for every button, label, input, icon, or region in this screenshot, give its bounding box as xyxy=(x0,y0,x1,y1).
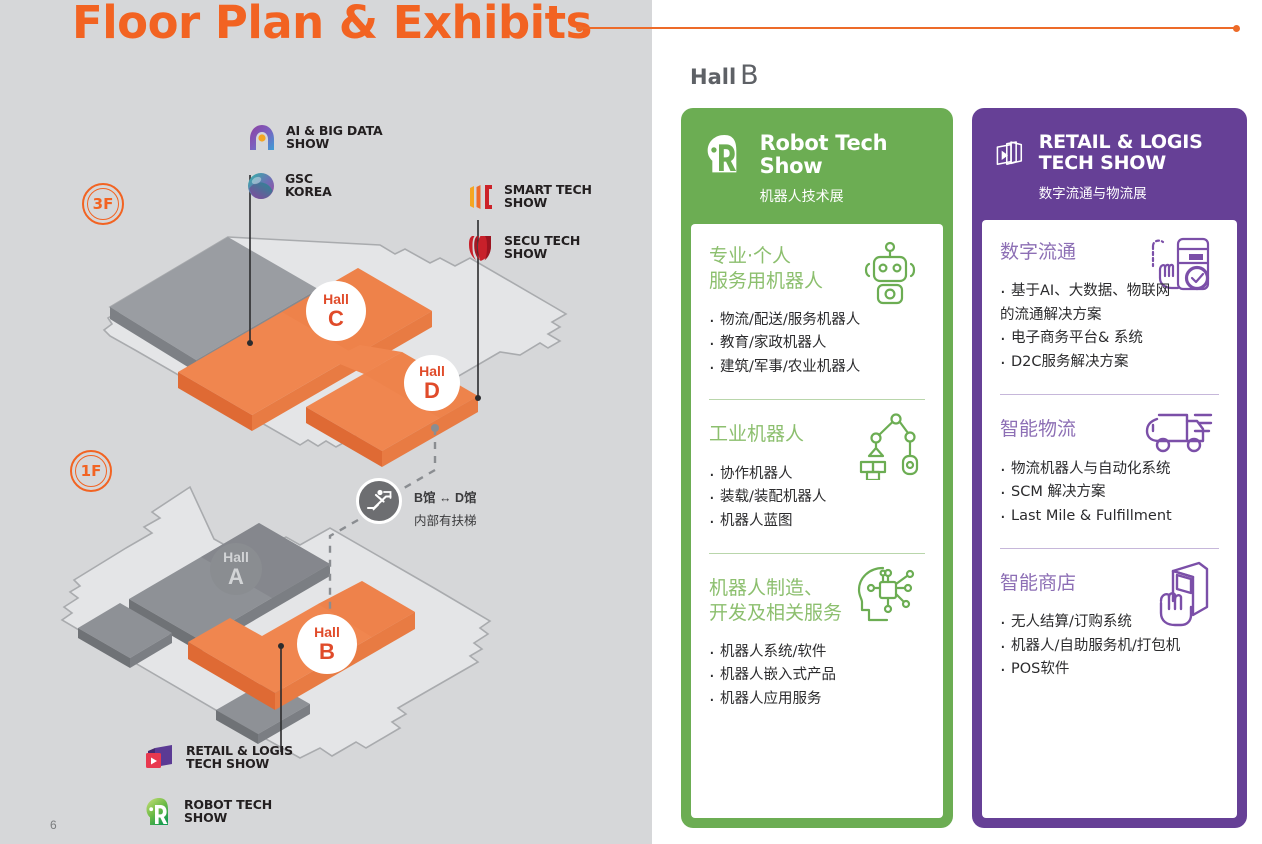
section-title: 工业机器人 xyxy=(709,422,925,446)
escalator-icon xyxy=(356,478,402,524)
hall-marker-c-top: Hall xyxy=(323,292,349,306)
section-title: 智能物流 xyxy=(1000,417,1219,441)
legend-item-ai-big-data-label: AI & BIG DATA SHOW xyxy=(286,123,382,150)
section-title: 机器人制造、开发及相关服务 xyxy=(709,576,925,625)
bullet-item: 教育/家政机器人 xyxy=(709,332,925,355)
retail-logis-tech-show-logo-icon xyxy=(994,130,1025,178)
section-smart-store: 智能商店 无人结算/订购系统 机器人/自助服务机/打包机 POS软件 xyxy=(1000,548,1219,696)
hall-marker-d[interactable]: Hall D xyxy=(404,355,460,411)
legend-item-ai-big-data[interactable]: AI & BIG DATA SHOW xyxy=(247,123,382,153)
section-smart-logistics: 智能物流 物流机器人与自动化系统 SCM 解决方案 Last Mile & Fu… xyxy=(1000,394,1219,542)
section-title: 专业·个人服务用机器人 xyxy=(709,244,925,293)
bullet-item: 机器人应用服务 xyxy=(709,688,925,711)
bullet-item-continuation: 的流通解决方案 xyxy=(1000,304,1219,327)
card-robot-subtitle: 机器人技术展 xyxy=(760,186,935,206)
section-bullets: 物流/配送/服务机器人 教育/家政机器人 建筑/军事/农业机器人 xyxy=(709,309,925,379)
hall-marker-b[interactable]: Hall B xyxy=(297,614,357,674)
legend-item-retail-logis[interactable]: RETAIL & LOGIS TECH SHOW xyxy=(143,743,293,773)
page-number: 6 xyxy=(50,818,57,832)
legend-item-secu-tech-label: SECU TECH SHOW xyxy=(504,233,580,260)
bullet-item: 机器人蓝图 xyxy=(709,510,925,533)
title-rule-decoration xyxy=(578,27,1238,29)
bullet-item: SCM 解决方案 xyxy=(1000,481,1219,504)
floor-badge-3f-label: 3F xyxy=(93,195,114,213)
section-service-robots: 专业·个人服务用机器人 物流/配送/服务机器人 教育/家政机器人 建筑/军事/农… xyxy=(709,244,925,393)
section-bullets: 基于AI、大数据、物联网 的流通解决方案 电子商务平台& 系统 D2C服务解决方… xyxy=(1000,280,1219,374)
card-retail-body: 数字流通 基于AI、大数据、物联网 的流通解决方案 电子商务平台& 系统 D2C… xyxy=(982,220,1237,818)
bullet-item: 机器人嵌入式产品 xyxy=(709,664,925,687)
hall-marker-d-label: D xyxy=(424,380,440,402)
escalator-note-line2: 内部有扶梯 xyxy=(414,510,477,533)
section-title: 数字流通 xyxy=(1000,240,1219,264)
smart-tech-show-icon xyxy=(465,182,495,212)
hall-marker-b-top: Hall xyxy=(314,625,340,639)
card-retail-header: RETAIL & LOGIS TECH SHOW 数字流通与物流展 xyxy=(972,108,1247,220)
hall-marker-a[interactable]: Hall A xyxy=(210,543,262,595)
escalator-note-line1: B馆 ↔ D馆 xyxy=(414,491,477,505)
legend-line2: SHOW xyxy=(504,196,592,209)
floor-badge-1f-label: 1F xyxy=(81,462,102,480)
legend-item-smart-tech[interactable]: SMART TECH SHOW xyxy=(465,182,592,212)
legend-item-robot-tech-label: ROBOT TECH SHOW xyxy=(184,797,272,824)
bullet-item: 物流/配送/服务机器人 xyxy=(709,309,925,332)
hall-marker-a-top: Hall xyxy=(223,550,249,564)
card-retail-title: RETAIL & LOGIS TECH SHOW xyxy=(1039,132,1229,173)
section-title: 智能商店 xyxy=(1000,571,1219,595)
section-industrial-robots: 工业机器人 协作机器人 装载/装配机器人 机器人蓝图 xyxy=(709,399,925,547)
section-bullets: 物流机器人与自动化系统 SCM 解决方案 Last Mile & Fulfill… xyxy=(1000,458,1219,528)
escalator-note: B馆 ↔ D馆 内部有扶梯 xyxy=(414,487,477,533)
legend-line2: SHOW xyxy=(184,811,272,824)
card-retail-subtitle: 数字流通与物流展 xyxy=(1039,182,1229,202)
bullet-item: 协作机器人 xyxy=(709,463,925,486)
bullet-item: POS软件 xyxy=(1000,658,1219,681)
section-bullets: 协作机器人 装载/装配机器人 机器人蓝图 xyxy=(709,463,925,533)
legend-item-secu-tech[interactable]: SECU TECH SHOW xyxy=(465,233,580,263)
floor-badge-1f: 1F xyxy=(70,450,112,492)
bullet-item: 机器人系统/软件 xyxy=(709,641,925,664)
robot-tech-show-icon xyxy=(143,797,175,827)
legend-line2: SHOW xyxy=(504,247,580,260)
legend-line2: KOREA xyxy=(285,185,332,198)
bullet-item: 物流机器人与自动化系统 xyxy=(1000,458,1219,481)
secu-tech-show-icon xyxy=(465,233,495,263)
hall-marker-b-label: B xyxy=(319,641,335,663)
bullet-item: 装载/装配机器人 xyxy=(709,486,925,509)
legend-item-gsc-korea-label: GSC KOREA xyxy=(285,171,332,198)
legend-line2: TECH SHOW xyxy=(186,757,293,770)
bullet-item: 基于AI、大数据、物联网 xyxy=(1000,280,1219,303)
card-robot-body: 专业·个人服务用机器人 物流/配送/服务机器人 教育/家政机器人 建筑/军事/农… xyxy=(691,224,943,818)
bullet-item: 无人结算/订购系统 xyxy=(1000,611,1219,634)
bullet-item: D2C服务解决方案 xyxy=(1000,351,1219,374)
retail-logis-tech-show-icon xyxy=(143,743,177,773)
bullet-item: 电子商务平台& 系统 xyxy=(1000,327,1219,350)
legend-item-gsc-korea[interactable]: GSC KOREA xyxy=(246,171,332,201)
hall-heading-prefix: Hall xyxy=(690,65,736,89)
hall-marker-c[interactable]: Hall C xyxy=(306,281,366,341)
section-robot-manufacturing: 机器人制造、开发及相关服务 机器人系统/软件 机器人嵌入式产品 机器人应用服务 xyxy=(709,553,925,725)
gsc-korea-icon xyxy=(246,171,276,201)
card-robot-title: Robot Tech Show xyxy=(760,132,935,177)
bullet-item: Last Mile & Fulfillment xyxy=(1000,505,1219,528)
hall-heading: HallB xyxy=(690,60,759,91)
legend-item-robot-tech[interactable]: ROBOT TECH SHOW xyxy=(143,797,272,827)
section-bullets: 无人结算/订购系统 机器人/自助服务机/打包机 POS软件 xyxy=(1000,611,1219,681)
legend-line2: SHOW xyxy=(286,137,382,150)
hall-marker-a-label: A xyxy=(228,566,244,588)
floor-badge-3f: 3F xyxy=(82,183,124,225)
legend-item-smart-tech-label: SMART TECH SHOW xyxy=(504,182,592,209)
card-robot-header: Robot Tech Show 机器人技术展 xyxy=(681,108,953,224)
hall-marker-c-label: C xyxy=(328,308,344,330)
hall-heading-value: B xyxy=(740,60,759,91)
card-retail-logis-tech-show[interactable]: RETAIL & LOGIS TECH SHOW 数字流通与物流展 xyxy=(972,108,1247,828)
bullet-item: 机器人/自助服务机/打包机 xyxy=(1000,635,1219,658)
robot-tech-show-logo-icon xyxy=(703,130,746,180)
ai-big-data-show-icon xyxy=(247,123,277,153)
card-robot-tech-show[interactable]: Robot Tech Show 机器人技术展 专业·个人服务用机器人 xyxy=(681,108,953,828)
section-digital-commerce: 数字流通 基于AI、大数据、物联网 的流通解决方案 电子商务平台& 系统 D2C… xyxy=(1000,240,1219,388)
section-bullets: 机器人系统/软件 机器人嵌入式产品 机器人应用服务 xyxy=(709,641,925,711)
bullet-item: 建筑/军事/农业机器人 xyxy=(709,356,925,379)
hall-marker-d-top: Hall xyxy=(419,364,445,378)
legend-item-retail-logis-label: RETAIL & LOGIS TECH SHOW xyxy=(186,743,293,770)
